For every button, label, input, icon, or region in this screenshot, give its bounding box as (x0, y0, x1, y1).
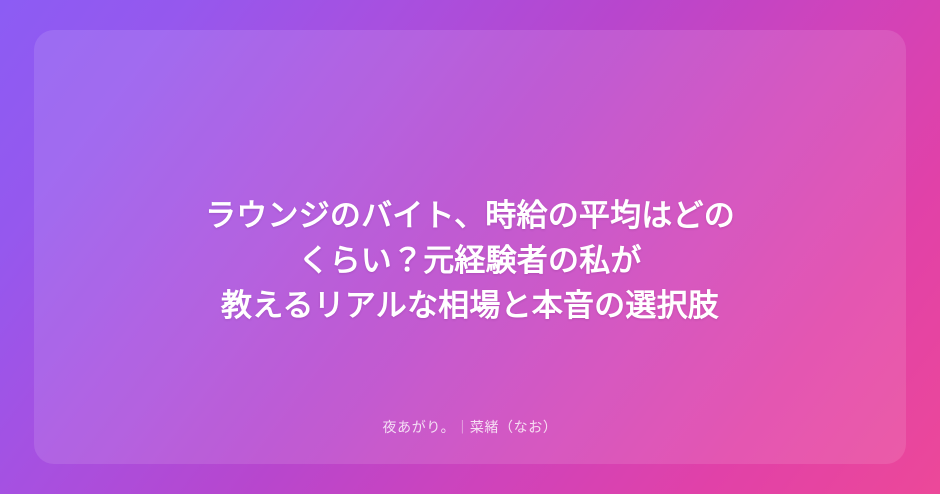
title-line-1: ラウンジのバイト、時給の平均はどの (80, 194, 860, 239)
page-title: ラウンジのバイト、時給の平均はどの くらい？元経験者の私が 教えるリアルな相場と… (80, 194, 860, 329)
site-name: 夜あがり。 (383, 420, 456, 436)
ogp-card-panel: ラウンジのバイト、時給の平均はどの くらい？元経験者の私が 教えるリアルな相場と… (34, 30, 906, 464)
author-name: 菜緒（なお） (470, 420, 558, 436)
byline-separator: ｜ (455, 420, 470, 436)
title-line-3: 教えるリアルな相場と本音の選択肢 (80, 284, 860, 329)
title-line-2: くらい？元経験者の私が (80, 239, 860, 284)
byline: 夜あがり。｜菜緒（なお） (34, 418, 906, 438)
ogp-canvas: ラウンジのバイト、時給の平均はどの くらい？元経験者の私が 教えるリアルな相場と… (0, 0, 940, 494)
